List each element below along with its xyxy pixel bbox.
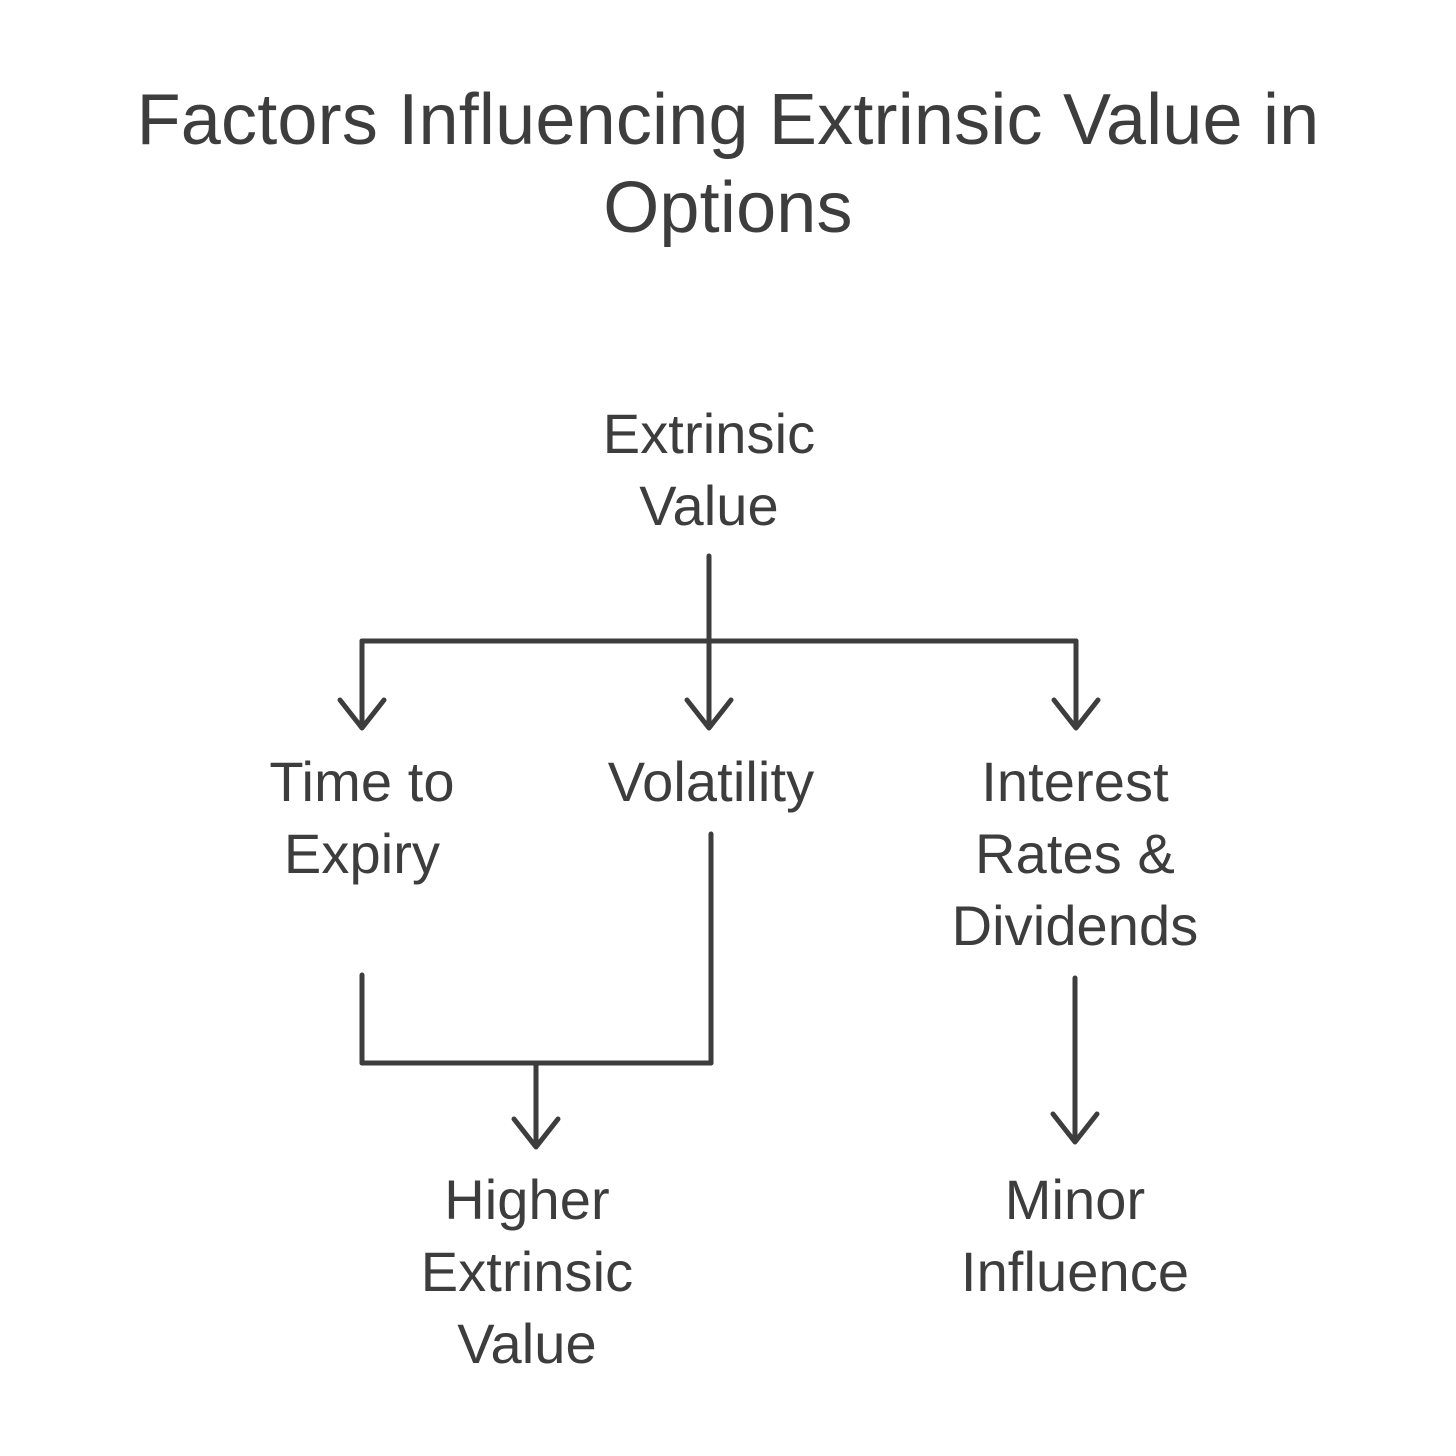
node-higher-extrinsic-value[interactable]: Higher Extrinsic Value bbox=[347, 1164, 707, 1380]
node-interest-rates-and-dividends[interactable]: Interest Rates & Dividends bbox=[895, 746, 1255, 962]
node-extrinsic-value[interactable]: Extrinsic Value bbox=[509, 398, 909, 542]
node-time-to-expiry[interactable]: Time to Expiry bbox=[182, 746, 542, 890]
node-minor-influence[interactable]: Minor Influence bbox=[895, 1164, 1255, 1308]
node-volatility[interactable]: Volatility bbox=[531, 746, 891, 818]
diagram-canvas: Factors Influencing Extrinsic Value in O… bbox=[0, 0, 1456, 1456]
